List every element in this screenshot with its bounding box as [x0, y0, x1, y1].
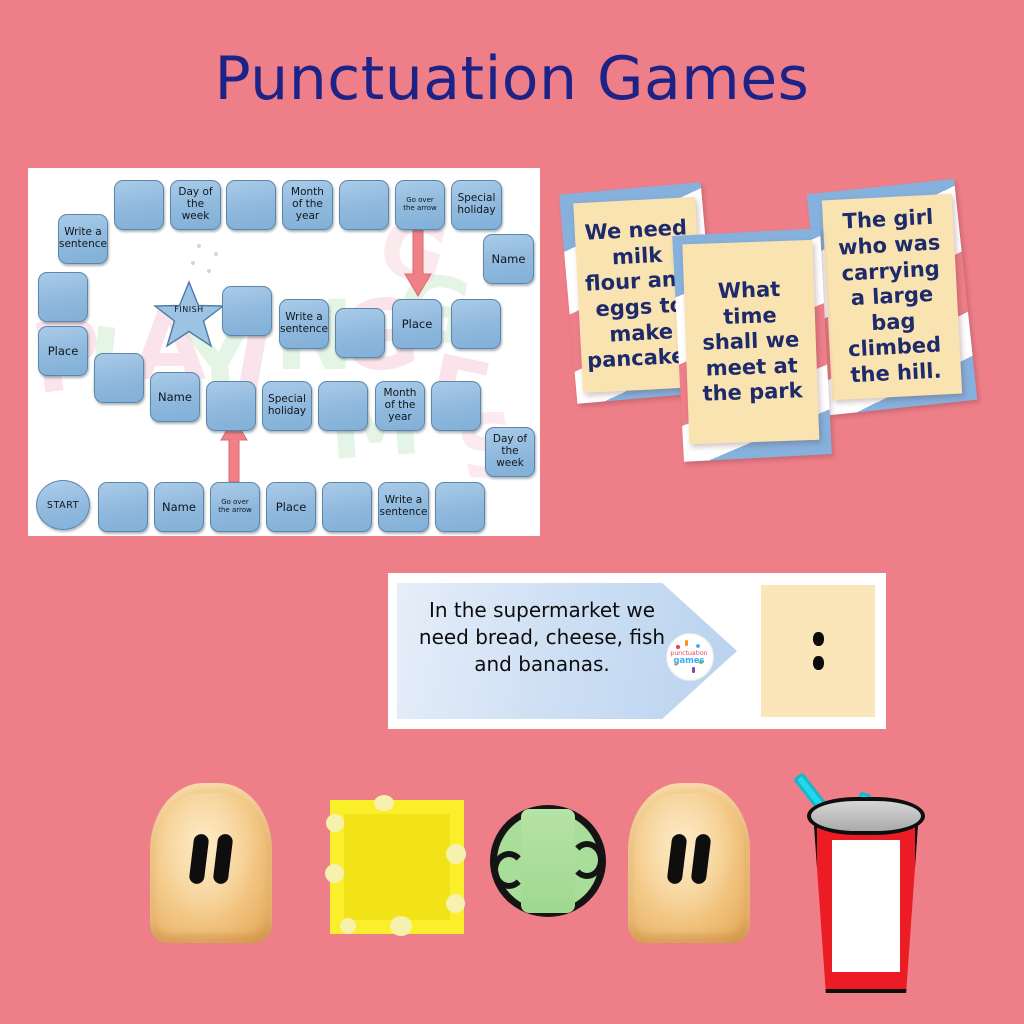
- cup-icon: [806, 762, 926, 998]
- lettuce-icon: [490, 805, 606, 917]
- cheese-slice[interactable]: [330, 800, 464, 934]
- board-tile-23[interactable]: Day ofthe week: [485, 427, 535, 477]
- board-tile-4[interactable]: [339, 180, 389, 230]
- card-front: What time shall we meet at the park: [682, 240, 819, 444]
- board-tile-17[interactable]: [94, 353, 144, 403]
- card-front: The girl who was carrying a large bag cl…: [822, 194, 962, 401]
- board-tile-27[interactable]: Place: [266, 482, 316, 532]
- cheese-icon: [330, 800, 464, 934]
- poster-canvas: Punctuation Games P L A Y I N G G M E S …: [0, 0, 1024, 1024]
- logo-glyph-icon: punctuation games: [667, 634, 711, 678]
- inverted-commas-icon: [192, 834, 231, 884]
- svg-text:games: games: [673, 655, 704, 665]
- board-tile-2[interactable]: [226, 180, 276, 230]
- board-tile-16[interactable]: Name: [150, 372, 200, 422]
- star-icon: [153, 280, 225, 350]
- page-title: Punctuation Games: [0, 44, 1024, 114]
- colon-icon: [813, 632, 824, 670]
- board-tile-14[interactable]: Place: [392, 299, 442, 349]
- board-tile-21[interactable]: Monthof theyear: [375, 381, 425, 431]
- board-tile-24[interactable]: [98, 482, 148, 532]
- arrow-down-icon: [404, 230, 432, 298]
- board-tile-29[interactable]: Write asentence: [378, 482, 429, 532]
- board-tile-18[interactable]: [206, 381, 256, 431]
- flash-card-hill[interactable]: The girl who was carrying a large bag cl…: [807, 179, 977, 415]
- board-tile-28[interactable]: [322, 482, 372, 532]
- board-dot: [207, 269, 211, 273]
- inverted-commas-icon: [670, 834, 709, 884]
- board-tile-11[interactable]: [222, 286, 272, 336]
- drink-cup-with-straw[interactable]: [806, 762, 926, 998]
- board-tile-8[interactable]: [38, 272, 88, 322]
- board-dot: [191, 261, 195, 265]
- board-tile-26[interactable]: Go overthe arrow: [210, 482, 260, 532]
- sentence-banner[interactable]: In the supermarket we need bread, cheese…: [388, 573, 886, 729]
- board-tile-30[interactable]: [435, 482, 485, 532]
- board-tile-20[interactable]: [318, 381, 368, 431]
- start-label: START: [47, 500, 79, 511]
- board-tile-5[interactable]: Go overthe arrow: [395, 180, 445, 230]
- toast-inverted-commas-right[interactable]: [628, 783, 750, 943]
- board-tile-9[interactable]: Place: [38, 326, 88, 376]
- board-tile-10[interactable]: Name: [483, 234, 534, 284]
- board-dot: [214, 252, 218, 256]
- board-tile-25[interactable]: Name: [154, 482, 204, 532]
- board-tile-15[interactable]: [451, 299, 501, 349]
- punctuation-board-game[interactable]: P L A Y I N G G M E S G FINISH START: [28, 168, 540, 536]
- lettuce-brackets[interactable]: [490, 805, 606, 917]
- board-tile-1[interactable]: Day ofthe week: [170, 180, 221, 230]
- punctuation-mark-panel: [761, 585, 875, 717]
- punctuation-games-logo-icon: punctuation games: [666, 633, 714, 681]
- board-arrow-down: [404, 230, 432, 302]
- bracket-left-icon: [492, 851, 526, 889]
- board-tile-0[interactable]: [114, 180, 164, 230]
- board-tile-3[interactable]: Monthof theyear: [282, 180, 333, 230]
- flash-card-park[interactable]: What time shall we meet at the park: [672, 228, 832, 461]
- board-dot: [197, 244, 201, 248]
- board-tile-19[interactable]: Specialholiday: [262, 381, 312, 431]
- toast-inverted-commas-left[interactable]: [150, 783, 272, 943]
- card-text: What time shall we meet at the park: [692, 276, 810, 408]
- finish-label: FINISH: [174, 305, 203, 314]
- banner-inner: In the supermarket we need bread, cheese…: [397, 583, 877, 719]
- bracket-right-icon: [570, 841, 604, 879]
- banner-sentence: In the supermarket we need bread, cheese…: [403, 597, 681, 678]
- board-tile-13[interactable]: [335, 308, 385, 358]
- card-text: The girl who was carrying a large bag cl…: [830, 204, 953, 389]
- board-tile-6[interactable]: Specialholiday: [451, 180, 502, 230]
- board-tile-12[interactable]: Write asentence: [279, 299, 329, 349]
- finish-star: FINISH: [153, 280, 225, 350]
- start-circle[interactable]: START: [36, 480, 90, 530]
- board-tile-22[interactable]: [431, 381, 481, 431]
- board-tile-7[interactable]: Write asentence: [58, 214, 108, 264]
